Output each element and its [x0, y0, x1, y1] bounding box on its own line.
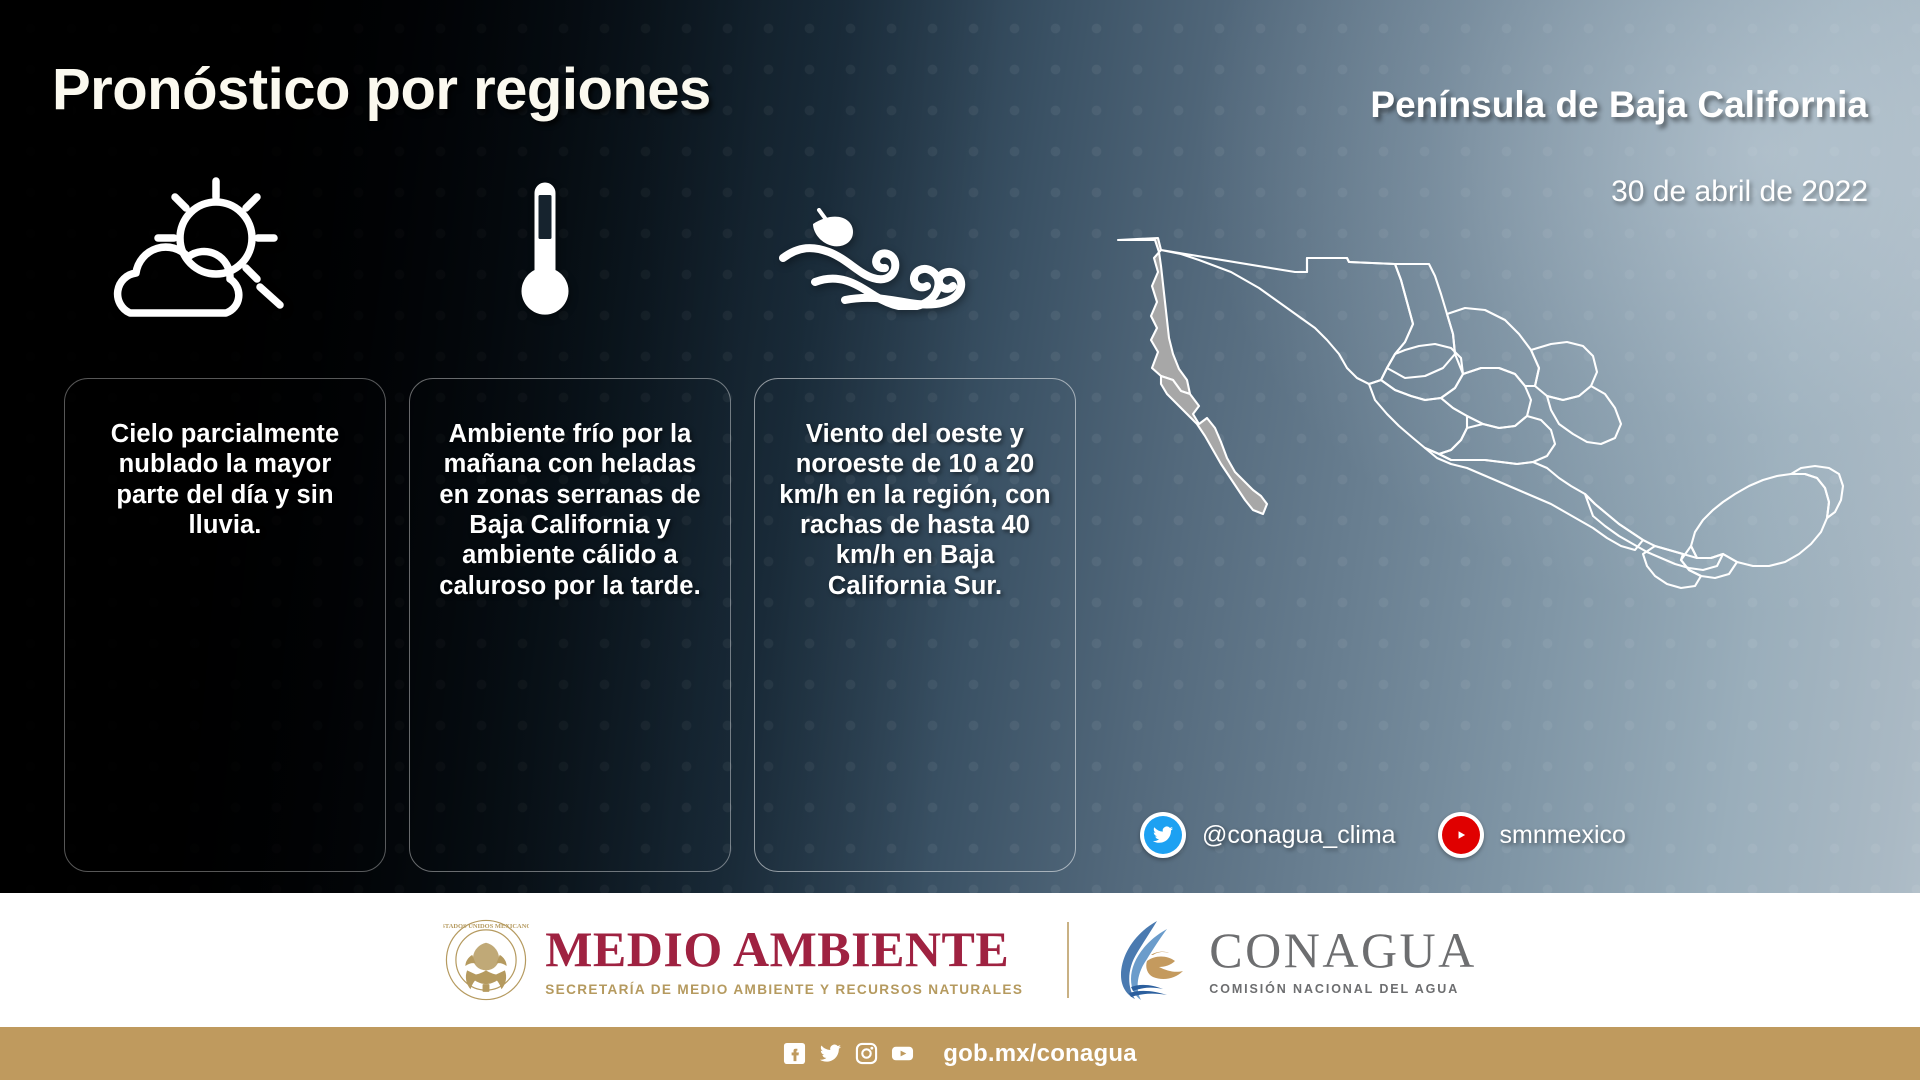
medio-ambiente-title: MEDIO AMBIENTE: [545, 924, 1009, 974]
twitter-handle-item[interactable]: @conagua_clima: [1140, 812, 1396, 858]
region-title: Península de Baja California: [1370, 84, 1868, 126]
conagua-title: CONAGUA: [1209, 925, 1477, 975]
poster-content: Pronóstico por regiones Península de Baj…: [0, 0, 1920, 893]
youtube-handle-label: smnmexico: [1500, 821, 1626, 850]
social-handles: @conagua_clima smnmexico: [1140, 812, 1626, 858]
youtube-icon[interactable]: [1438, 812, 1484, 858]
thermometer-icon: [410, 160, 680, 340]
bottom-bar: gob.mx/conagua: [0, 1027, 1920, 1080]
svg-text:ESTADOS UNIDOS MEXICANOS: ESTADOS UNIDOS MEXICANOS: [443, 923, 529, 930]
sun-behind-cloud-icon: [65, 160, 335, 340]
medio-ambiente-subtitle: SECRETARÍA DE MEDIO AMBIENTE Y RECURSOS …: [545, 982, 1023, 997]
map-region-baja-california: [1118, 238, 1190, 394]
forecast-date: 30 de abril de 2022: [1611, 175, 1868, 209]
instagram-icon[interactable]: [855, 1042, 878, 1065]
conagua-emblem-icon: [1113, 917, 1193, 1003]
facebook-icon[interactable]: [783, 1042, 806, 1065]
footer-logos: ESTADOS UNIDOS MEXICANOS MEDIO AMBIENTE …: [0, 893, 1920, 1027]
weather-forecast-poster: Pronóstico por regiones Península de Baj…: [0, 0, 1920, 1080]
conagua-logo: CONAGUA COMISIÓN NACIONAL DEL AGUA: [1113, 917, 1477, 1003]
twitter-icon[interactable]: [819, 1042, 842, 1065]
conagua-subtitle: COMISIÓN NACIONAL DEL AGUA: [1209, 982, 1459, 996]
wind-icon: [755, 160, 1025, 340]
forecast-card-wind: Viento del oeste y noroeste de 10 a 20 k…: [754, 378, 1076, 872]
map-region-baja-california-sur: [1161, 376, 1267, 514]
forecast-card-sky: Cielo parcialmente nublado la mayor part…: [64, 378, 386, 872]
twitter-icon[interactable]: [1140, 812, 1186, 858]
footer-divider: [1067, 922, 1069, 998]
page-title: Pronóstico por regiones: [52, 56, 711, 123]
medio-ambiente-logo: ESTADOS UNIDOS MEXICANOS MEDIO AMBIENTE …: [443, 917, 1023, 1003]
twitter-handle-label: @conagua_clima: [1202, 821, 1396, 850]
gob-mx-url[interactable]: gob.mx/conagua: [943, 1040, 1137, 1068]
mexico-coat-of-arms-icon: ESTADOS UNIDOS MEXICANOS: [443, 917, 529, 1003]
youtube-handle-item[interactable]: smnmexico: [1438, 812, 1626, 858]
forecast-card-temperature: Ambiente frío por la mañana con heladas …: [409, 378, 731, 872]
youtube-icon[interactable]: [891, 1042, 914, 1065]
mexico-map: [1095, 228, 1895, 648]
